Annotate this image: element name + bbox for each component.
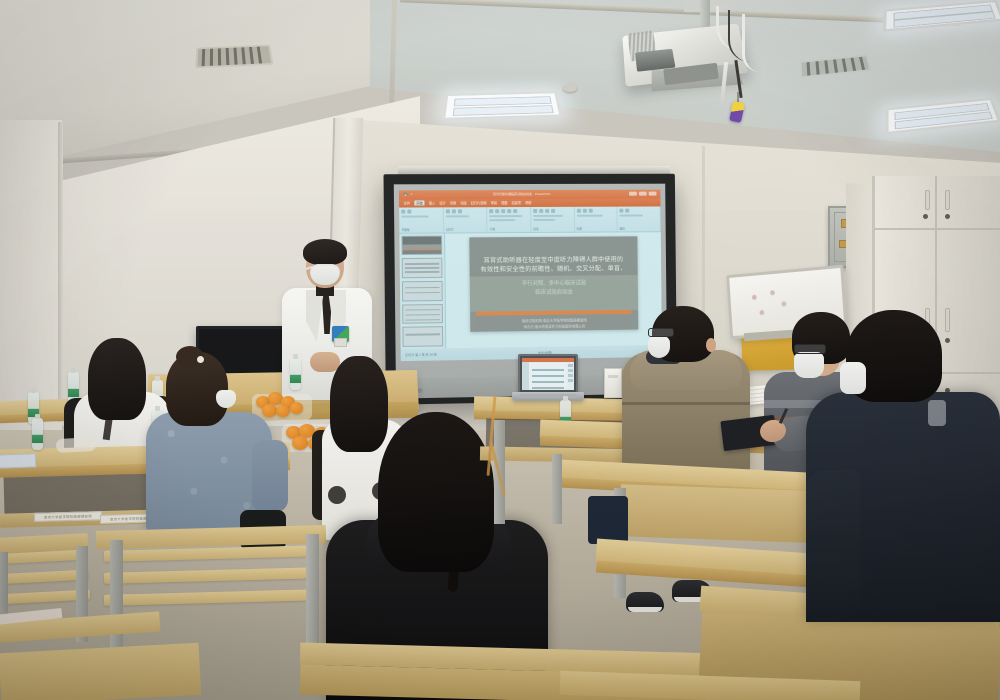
- ribbon-group-font[interactable]: 字体: [488, 207, 532, 232]
- laptop-slide-area: [529, 363, 566, 388]
- attendee-e-face-mask: [648, 336, 670, 358]
- cabinet-lock-icon: [945, 214, 950, 219]
- slide-footer-block: 临床试验机构:南京大学医学院附属鼓楼医院 申办方:惠州市惠耳听力科技股份有限公司: [477, 315, 632, 329]
- window-app-label: PowerPoint: [535, 192, 550, 196]
- plastic-bag: [56, 437, 97, 453]
- cabinet-handle[interactable]: [925, 190, 930, 210]
- projection-surface: 💾 ↶ 耳背式助听器临床试验启动会 PowerPoint 文件 开始 插入 设计…: [394, 184, 667, 379]
- quick-access-undo-icon[interactable]: ↶: [410, 193, 413, 197]
- attendee-g-face-mask: [840, 362, 866, 394]
- tab-help[interactable]: 帮助: [525, 200, 531, 205]
- status-slide-indicator: 幻灯片 第 1 张,共 18 张: [405, 352, 437, 357]
- tab-design[interactable]: 设计: [439, 201, 446, 206]
- laptop-display: [522, 358, 574, 390]
- attendee-e-glasses-icon: [648, 328, 674, 337]
- attendee-g-shoulder-detail: [928, 400, 946, 426]
- wall-corner: [58, 122, 63, 422]
- attendee-f-face-mask: [794, 352, 824, 378]
- window-filename: 耳背式助听器临床试验启动会: [493, 192, 532, 196]
- slide-title-line-2: 有效性和安全性的前瞻性、随机、交叉分配、单盲、: [478, 264, 629, 275]
- tab-transitions[interactable]: 切换: [450, 201, 456, 206]
- tab-review[interactable]: 审阅: [491, 200, 497, 205]
- ribbon-group-label: 剪贴板: [402, 227, 410, 231]
- attendee-b-hair-pin: [197, 356, 204, 363]
- attendee-e-ear: [706, 338, 716, 352]
- ceiling-light-panel: [442, 91, 563, 120]
- presenter-id-card: [334, 338, 347, 347]
- attendee-b-arm: [252, 440, 288, 512]
- slide-thumbnail[interactable]: [402, 258, 442, 278]
- ribbon-group-paragraph[interactable]: 段落: [531, 207, 575, 232]
- tangerine[interactable]: [290, 402, 303, 414]
- device-box[interactable]: [604, 368, 622, 398]
- ribbon-group-slides[interactable]: 幻灯片: [444, 207, 488, 232]
- slide-thumbnail[interactable]: [402, 281, 442, 301]
- attendee-c-hair: [330, 356, 388, 452]
- attendee-f-glasses-icon: [794, 344, 826, 354]
- tab-file[interactable]: 文件: [404, 201, 411, 206]
- slide-title-text: 耳背式助听器在轻度至中度听力障碍人群中使用的 有效性和安全性的前瞻性、随机、交叉…: [478, 255, 629, 276]
- ribbon-group-label: 段落: [533, 227, 538, 231]
- attendee-g-arm: [806, 470, 860, 610]
- tangerine[interactable]: [276, 405, 290, 417]
- cabinet-lock-icon: [945, 338, 950, 343]
- cabinet-seam: [935, 176, 937, 228]
- slide-thumbnail[interactable]: [403, 304, 443, 324]
- ribbon-group-clipboard[interactable]: 剪贴板: [400, 207, 444, 232]
- attendee-a-hair: [88, 338, 146, 420]
- ribbon-group-label: 幻灯片: [446, 227, 454, 231]
- air-vent-icon: [195, 45, 273, 69]
- slide-subtitle-text: 平行对照、多中心临床试验 临床试验启动会: [483, 279, 624, 299]
- ribbon-group-label: 编辑: [620, 226, 625, 230]
- laptop-thumbnail-panel: [522, 362, 529, 390]
- cabinet-handle[interactable]: [945, 308, 950, 332]
- tab-slideshow[interactable]: 幻灯片放映: [471, 200, 487, 205]
- attendee-e-jacket-seam: [622, 402, 750, 405]
- shoe: [626, 592, 664, 612]
- slide-thumbnail-panel[interactable]: [400, 233, 446, 348]
- bench-leg: [306, 534, 319, 658]
- ribbon-group-editing[interactable]: 编辑: [617, 206, 660, 231]
- classroom-photo: 💾 ↶ 耳背式助听器临床试验启动会 PowerPoint 文件 开始 插入 设计…: [0, 0, 1000, 700]
- current-slide[interactable]: 耳背式助听器在轻度至中度听力障碍人群中使用的 有效性和安全性的前瞻性、随机、交叉…: [469, 236, 638, 332]
- smoke-detector-icon: [563, 84, 577, 92]
- ribbon-group-label: 字体: [490, 227, 495, 231]
- quick-access-save-icon[interactable]: 💾: [403, 193, 407, 197]
- tab-home[interactable]: 开始: [414, 201, 425, 206]
- slide-footer-text: 临床试验机构:南京大学医学院附属鼓楼医院 申办方:惠州市惠耳听力科技股份有限公司: [477, 317, 632, 332]
- laptop-side-toolbar: [568, 364, 573, 382]
- cabinet-lock-icon: [923, 214, 928, 219]
- ribbon-group-label: 绘图: [577, 226, 582, 230]
- slide-footer-line-2: 申办方:惠州市惠耳听力科技股份有限公司: [477, 323, 632, 332]
- bench-leg: [110, 540, 123, 660]
- tab-view[interactable]: 视图: [501, 200, 507, 205]
- slide-subtitle-line-2: 临床试验启动会: [483, 288, 624, 299]
- water-bottle[interactable]: [290, 358, 301, 390]
- cabinet-handle[interactable]: [945, 190, 950, 210]
- desk-label: 南京大学医学院附属鼓楼医院: [34, 511, 102, 522]
- projector-cable: [742, 14, 760, 72]
- attendee-legs: [588, 496, 628, 544]
- attendee-d-hair: [378, 412, 494, 572]
- tab-insert[interactable]: 插入: [429, 201, 436, 206]
- presenter-hair: [303, 239, 347, 265]
- powerpoint-ribbon[interactable]: 剪贴板 幻灯片 字体: [400, 206, 661, 233]
- laptop-screen[interactable]: [518, 354, 578, 394]
- tangerine[interactable]: [262, 404, 277, 417]
- presenter-hands: [310, 352, 340, 372]
- cabinet-seam: [875, 228, 1000, 230]
- slide-canvas[interactable]: 耳背式助听器在轻度至中度听力障碍人群中使用的 有效性和安全性的前瞻性、随机、交叉…: [445, 232, 662, 348]
- tab-addins[interactable]: 加载项: [511, 200, 521, 205]
- laptop-keyboard-base[interactable]: [512, 392, 584, 401]
- water-bottle[interactable]: [32, 418, 43, 450]
- bench-seat: [0, 643, 201, 700]
- attendee-c-jacket-detail: [328, 486, 346, 504]
- slide-thumbnail[interactable]: [402, 235, 442, 255]
- laptop-app-titlebar: [522, 358, 574, 362]
- ribbon-group-drawing[interactable]: 绘图: [574, 206, 617, 231]
- powerpoint-window: 💾 ↶ 耳背式助听器临床试验启动会 PowerPoint 文件 开始 插入 设计…: [399, 189, 661, 360]
- tangerine[interactable]: [292, 436, 308, 450]
- desk-modesty-panel: [619, 484, 837, 544]
- tab-animations[interactable]: 动画: [460, 200, 466, 205]
- desk-leg: [552, 454, 562, 524]
- slide-thumbnail[interactable]: [403, 326, 443, 346]
- window-controls[interactable]: [629, 192, 656, 196]
- paper-sheet[interactable]: [0, 453, 36, 469]
